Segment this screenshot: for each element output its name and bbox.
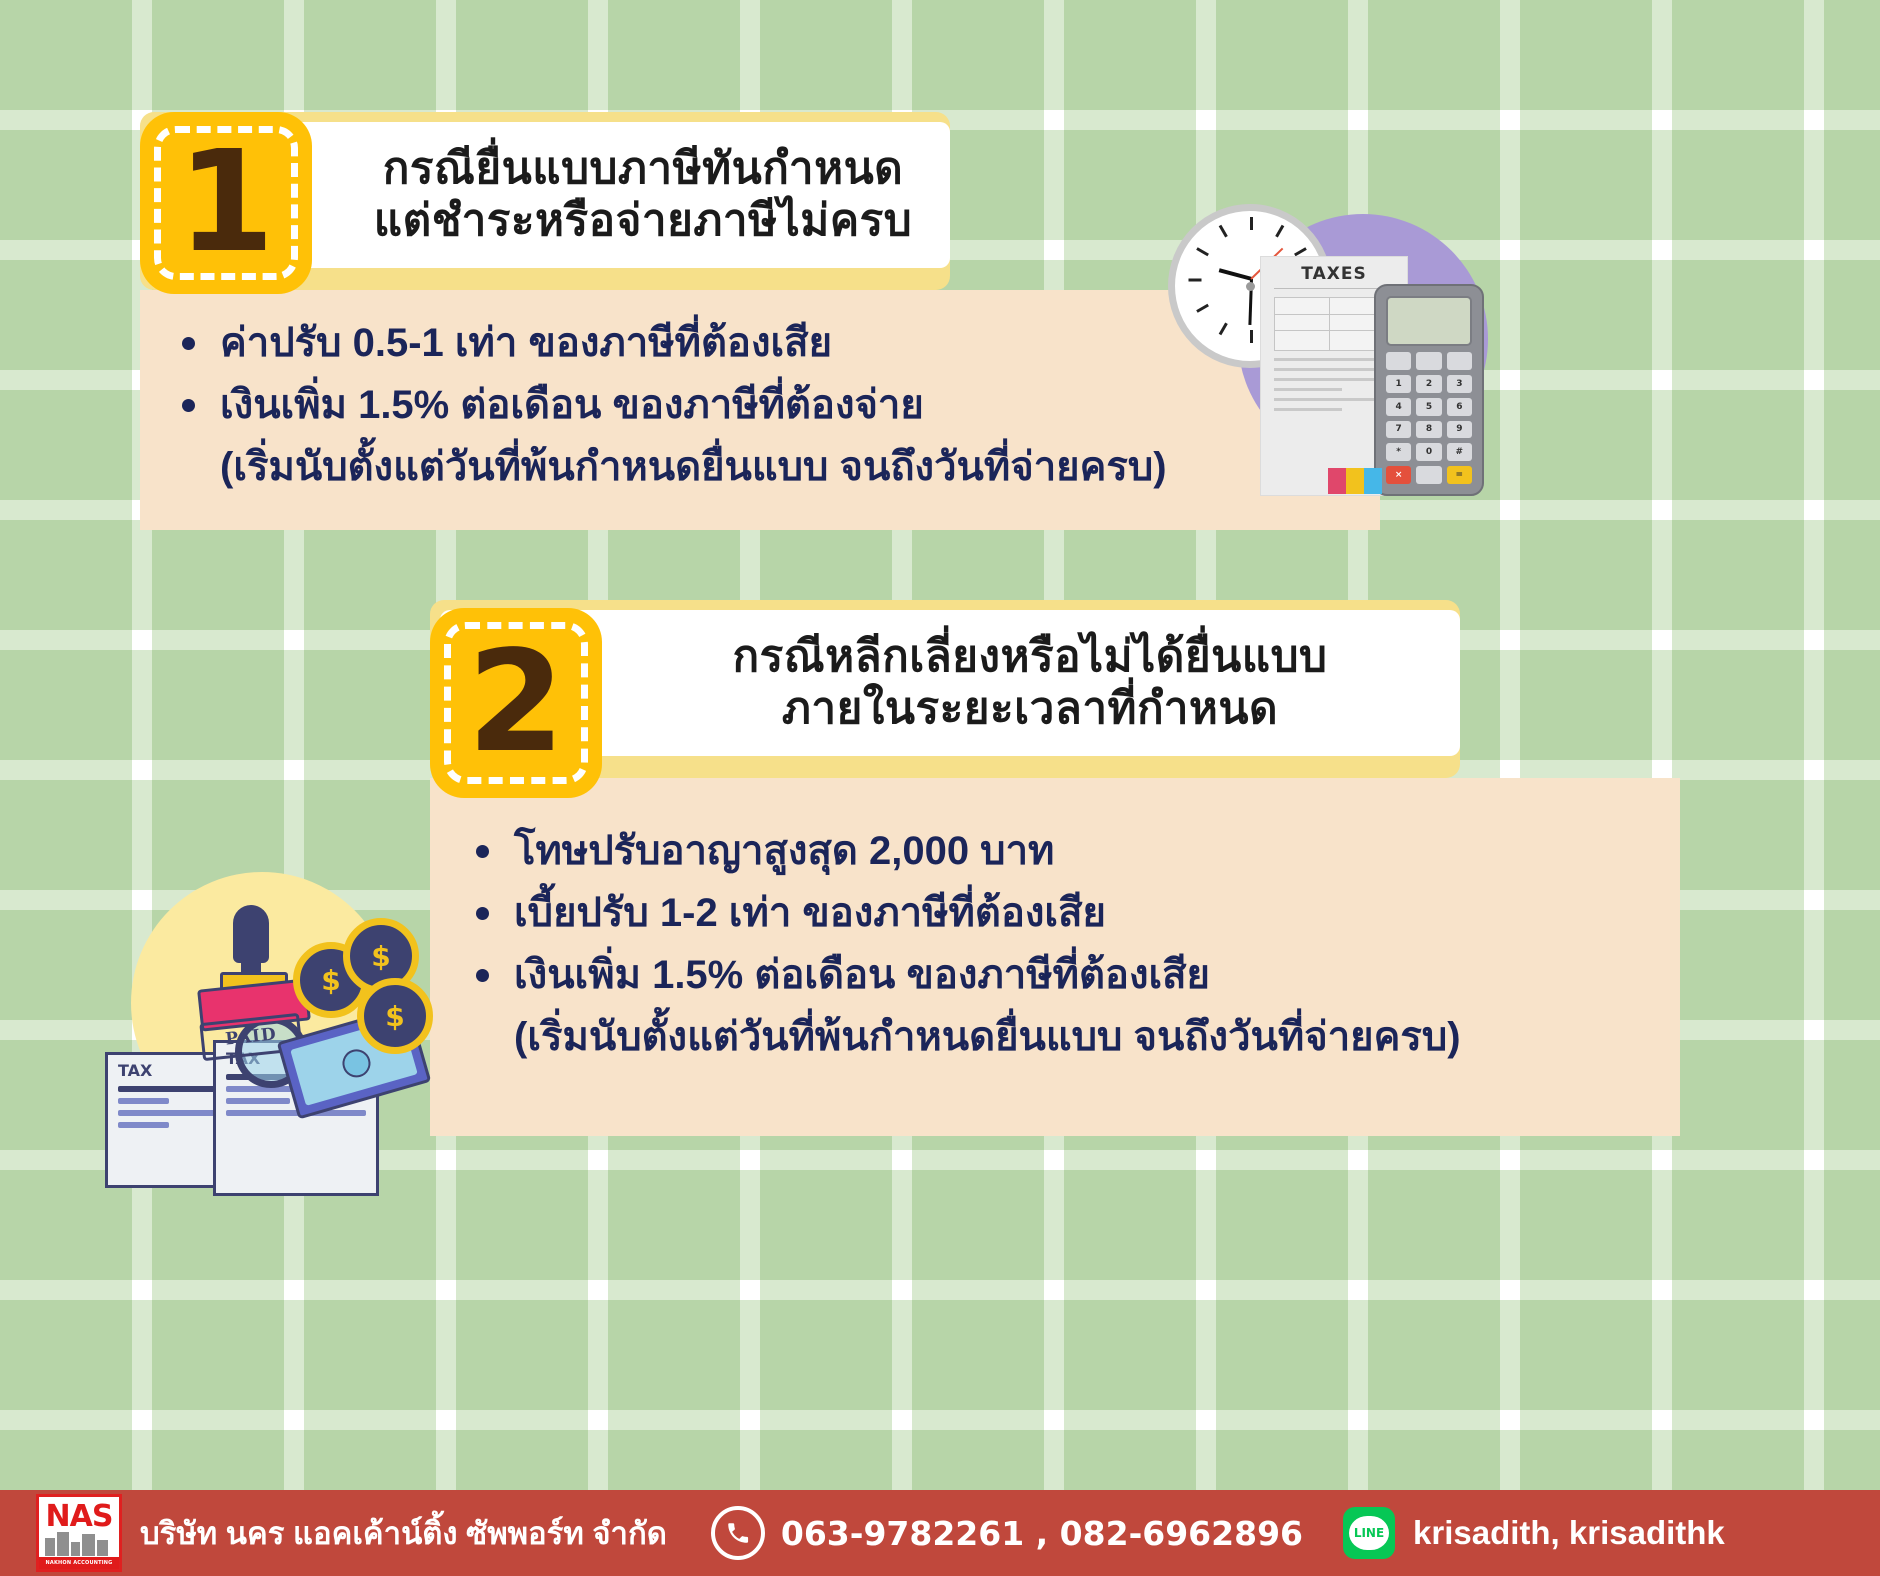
calculator-key: 2 — [1416, 375, 1441, 393]
calculator-key — [1416, 352, 1441, 370]
logo-caption: NAKHON ACCOUNTING SUPPORT CO., LTD — [39, 1557, 119, 1569]
card-1-title-line2: แต่ชำระหรือจ่ายภาษีไม่ครบ — [350, 195, 936, 247]
calculator-key: # — [1447, 443, 1472, 461]
illustration-stamp-money-tax-docs: TAX TAX PAID $ $ $ — [85, 760, 425, 1090]
card-2-title-line1: กรณีหลีกเลี่ยงหรือไม่ได้ยื่นแบบ — [630, 631, 1430, 683]
tax-form-title: TAXES — [1260, 256, 1408, 284]
cmyk-color-strip — [1328, 468, 1382, 494]
calculator-key: 3 — [1447, 375, 1472, 393]
calculator-key: 5 — [1416, 398, 1441, 416]
calculator-key: 7 — [1386, 421, 1411, 439]
phone-numbers: 063-9782261 , 082-6962896 — [781, 1514, 1303, 1553]
calculator-key — [1386, 352, 1411, 370]
calculator-key: 6 — [1447, 398, 1472, 416]
card-2-number-badge: 2 — [430, 608, 602, 798]
tax-form-line — [1274, 388, 1342, 391]
illustration-clock-taxes-calculator: TAXES 1 2 3 4 5 6 7 8 9 * 0 — [1168, 196, 1498, 516]
card-2-number: 2 — [467, 633, 564, 773]
line-icon: LINE — [1343, 1507, 1395, 1559]
doc-bar — [118, 1122, 169, 1128]
calculator-key: 8 — [1416, 421, 1441, 439]
doc-bar — [118, 1098, 169, 1104]
calculator-icon: 1 2 3 4 5 6 7 8 9 * 0 # × = — [1374, 284, 1484, 496]
calculator-key: 4 — [1386, 398, 1411, 416]
stamp-handle — [233, 905, 269, 963]
tax-form-line — [1274, 408, 1342, 411]
clock-hour-hand — [1219, 268, 1253, 281]
footer-contact-bar: NAS NAKHON ACCOUNTING SUPPORT CO., LTD บ… — [0, 1490, 1880, 1576]
card-1-title-line1: กรณียื่นแบบภาษีทันกำหนด — [350, 143, 936, 195]
calculator-key — [1416, 466, 1441, 484]
card-1-number-badge: 1 — [140, 112, 312, 294]
line-icon-label: LINE — [1349, 1516, 1389, 1550]
card-1-number: 1 — [177, 133, 274, 273]
phone-icon — [711, 1506, 765, 1560]
card-2-bullet-1: โทษปรับอาญาสูงสุด 2,000 บาท — [462, 820, 1662, 882]
calculator-key-clear: × — [1386, 466, 1411, 484]
coin-icon: $ — [357, 978, 433, 1054]
logo-initials: NAS — [39, 1499, 119, 1534]
card-2-bullet-2: เบี้ยปรับ 1-2 เท่า ของภาษีที่ต้องเสีย — [462, 882, 1662, 944]
line-ids: krisadith, krisadithk — [1413, 1514, 1725, 1552]
calculator-key: 1 — [1386, 375, 1411, 393]
doc-bar — [118, 1110, 226, 1116]
card-2-bullet-3: เงินเพิ่ม 1.5% ต่อเดือน ของภาษีที่ต้องเส… — [462, 944, 1662, 1006]
company-name: บริษัท นคร แอคเค้าน์ติ้ง ซัพพอร์ท จำกัด — [140, 1508, 667, 1558]
calculator-key: 9 — [1447, 421, 1472, 439]
calculator-screen — [1386, 296, 1472, 346]
card-2-title-line2: ภายในระยะเวลาที่กำหนด — [630, 683, 1430, 735]
doc-bar — [118, 1086, 226, 1092]
card-2-bullet-list: โทษปรับอาญาสูงสุด 2,000 บาท เบี้ยปรับ 1-… — [462, 820, 1662, 1068]
clock-center-pin — [1246, 282, 1255, 291]
doc-bar — [226, 1098, 290, 1104]
calculator-keypad: 1 2 3 4 5 6 7 8 9 * 0 # × = — [1386, 352, 1472, 484]
calculator-key — [1447, 352, 1472, 370]
calculator-key: * — [1386, 443, 1411, 461]
calculator-key: 0 — [1416, 443, 1441, 461]
company-logo: NAS NAKHON ACCOUNTING SUPPORT CO., LTD — [36, 1494, 122, 1572]
calculator-key-equals: = — [1447, 466, 1472, 484]
card-2-bullet-note: (เริ่มนับตั้งแต่วันที่พ้นกำหนดยื่นแบบ จน… — [462, 1006, 1662, 1068]
